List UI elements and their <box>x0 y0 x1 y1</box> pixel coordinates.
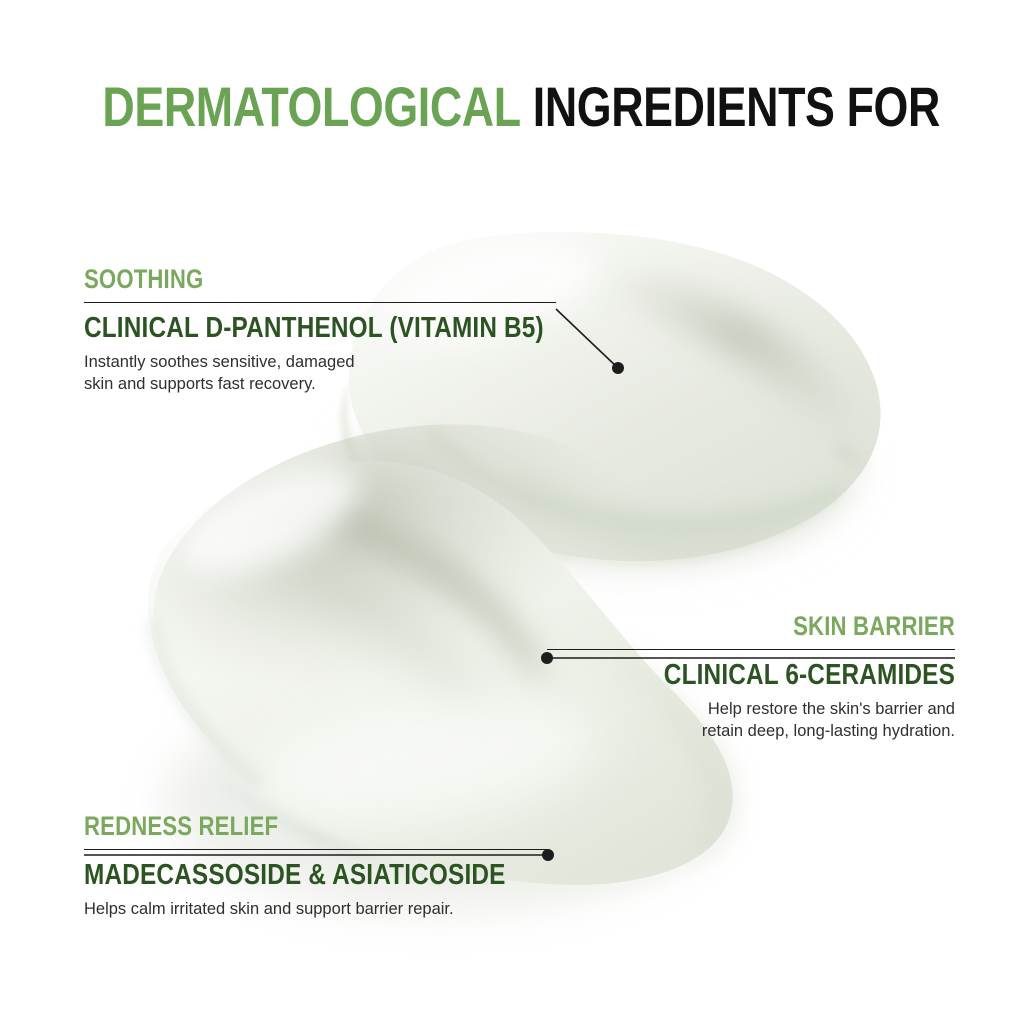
connector-line-soothing <box>556 309 618 368</box>
callout-redness-relief-divider <box>84 849 548 850</box>
page-title-green-part: DERMATOLOGICAL <box>102 75 520 138</box>
callout-redness-relief-description: Helps calm irritated skin and support ba… <box>84 899 548 921</box>
callout-soothing: SOOTHING CLINICAL D-PANTHENOL (VITAMIN B… <box>84 266 556 396</box>
page-title: DERMATOLOGICAL INGREDIENTS FOR <box>102 78 921 137</box>
callout-soothing-category: SOOTHING <box>84 266 471 293</box>
callout-skin-barrier-description: Help restore the skin's barrier and reta… <box>547 699 955 743</box>
callout-redness-relief-ingredient: MADECASSOSIDE & ASIATICOSIDE <box>84 860 474 890</box>
callout-soothing-description: Instantly soothes sensitive, damaged ski… <box>84 352 556 396</box>
connector-dot-soothing <box>612 362 624 374</box>
page-title-dark-part: INGREDIENTS FOR <box>533 75 940 138</box>
callout-skin-barrier-divider <box>547 649 955 650</box>
callout-redness-relief-category: REDNESS RELIEF <box>84 813 464 840</box>
callout-skin-barrier-category: SKIN BARRIER <box>620 613 955 640</box>
callout-soothing-ingredient: CLINICAL D-PANTHENOL (VITAMIN B5) <box>84 313 480 343</box>
callout-skin-barrier: SKIN BARRIER CLINICAL 6-CERAMIDES Help r… <box>547 613 955 743</box>
callout-redness-relief: REDNESS RELIEF MADECASSOSIDE & ASIATICOS… <box>84 813 548 921</box>
callout-soothing-divider <box>84 302 556 303</box>
callout-skin-barrier-ingredient: CLINICAL 6-CERAMIDES <box>612 660 955 690</box>
infographic-canvas: DERMATOLOGICAL INGREDIENTS FOR SOOTHING … <box>0 0 1024 1025</box>
